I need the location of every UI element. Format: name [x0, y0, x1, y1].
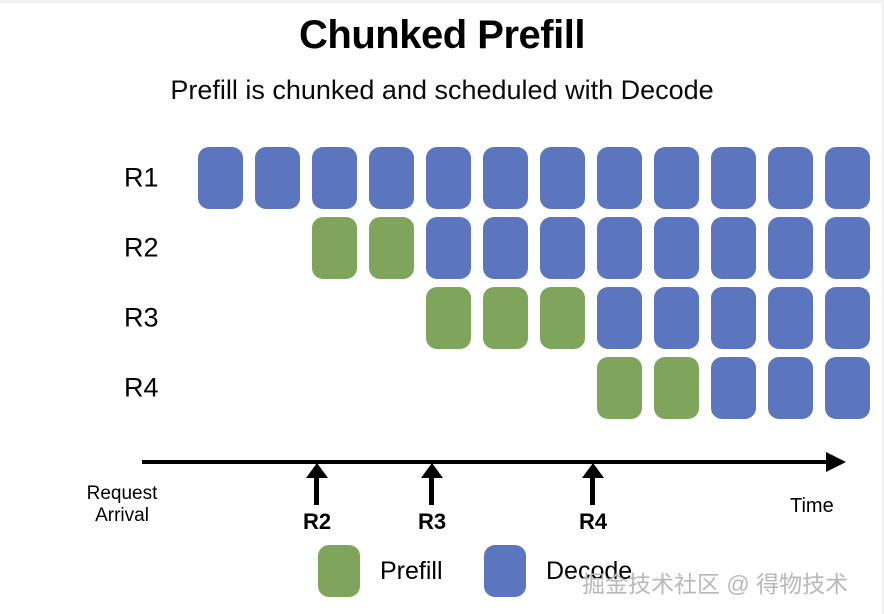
watermark: 掘金技术社区 @ 得物技术: [582, 565, 848, 599]
row-label-r3: R3: [124, 303, 184, 334]
request-arrival-label: Request Arrival: [62, 483, 182, 527]
chunk-block-decode: [597, 287, 642, 349]
arrow-shaft: [429, 475, 434, 505]
chunk-block-decode: [825, 357, 870, 419]
chunk-block-prefill: [597, 357, 642, 419]
chunk-block-decode: [426, 217, 471, 279]
chunk-block-prefill: [654, 357, 699, 419]
request-arrival-line2: Arrival: [62, 505, 182, 527]
legend-swatch-prefill: [318, 545, 360, 597]
chunk-block-decode: [768, 217, 813, 279]
chunk-block-decode: [711, 147, 756, 209]
time-axis: Request Arrival Time R2R3R4: [0, 443, 884, 543]
chunk-block-decode: [426, 147, 471, 209]
page-title: Chunked Prefill: [0, 13, 884, 58]
arrow-shaft: [314, 475, 319, 505]
row-label-r2: R2: [124, 233, 184, 264]
chunk-block-decode: [255, 147, 300, 209]
schedule-row-r3: R3: [0, 283, 884, 353]
chunk-block-decode: [540, 217, 585, 279]
chunk-block-decode: [654, 287, 699, 349]
chunk-block-decode: [825, 287, 870, 349]
chunk-block-prefill: [426, 287, 471, 349]
row-label-r4: R4: [124, 373, 184, 404]
schedule-row-r2: R2: [0, 213, 884, 283]
chunk-block-decode: [711, 217, 756, 279]
arrival-marker-r3: R3: [412, 465, 452, 537]
arrival-marker-label: R3: [412, 509, 452, 535]
chunk-block-decode: [540, 147, 585, 209]
axis-arrowhead-icon: [826, 452, 846, 472]
row-label-r1: R1: [124, 163, 184, 194]
chunk-block-prefill: [540, 287, 585, 349]
time-axis-label: Time: [790, 495, 834, 518]
chunk-block-decode: [768, 357, 813, 419]
chunk-block-decode: [825, 147, 870, 209]
legend-swatch-decode: [484, 545, 526, 597]
arrow-shaft: [590, 475, 595, 505]
chunk-block-decode: [768, 287, 813, 349]
page-subtitle: Prefill is chunked and scheduled with De…: [0, 75, 884, 106]
chunk-block-decode: [312, 147, 357, 209]
arrival-marker-r4: R4: [573, 465, 613, 537]
chunk-block-prefill: [312, 217, 357, 279]
chunk-block-decode: [369, 147, 414, 209]
chunk-block-decode: [483, 147, 528, 209]
chunk-block-prefill: [483, 287, 528, 349]
arrival-marker-label: R2: [297, 509, 337, 535]
chunk-block-decode: [654, 147, 699, 209]
chunked-prefill-diagram: Chunked Prefill Prefill is chunked and s…: [0, 0, 884, 614]
chunk-block-decode: [711, 357, 756, 419]
chunk-block-decode: [597, 217, 642, 279]
legend-label-prefill: Prefill: [380, 557, 443, 586]
chunk-block-decode: [597, 147, 642, 209]
chunk-block-prefill: [369, 217, 414, 279]
schedule-row-r1: R1: [0, 143, 884, 213]
chunk-block-decode: [711, 287, 756, 349]
arrival-marker-r2: R2: [297, 465, 337, 537]
chunk-block-decode: [483, 217, 528, 279]
schedule-row-r4: R4: [0, 353, 884, 423]
arrival-marker-label: R4: [573, 509, 613, 535]
chunk-block-decode: [198, 147, 243, 209]
schedule-grid: R1R2R3R4: [0, 143, 884, 433]
request-arrival-line1: Request: [62, 483, 182, 505]
chunk-block-decode: [768, 147, 813, 209]
chunk-block-decode: [654, 217, 699, 279]
chunk-block-decode: [825, 217, 870, 279]
axis-line: [142, 460, 832, 464]
